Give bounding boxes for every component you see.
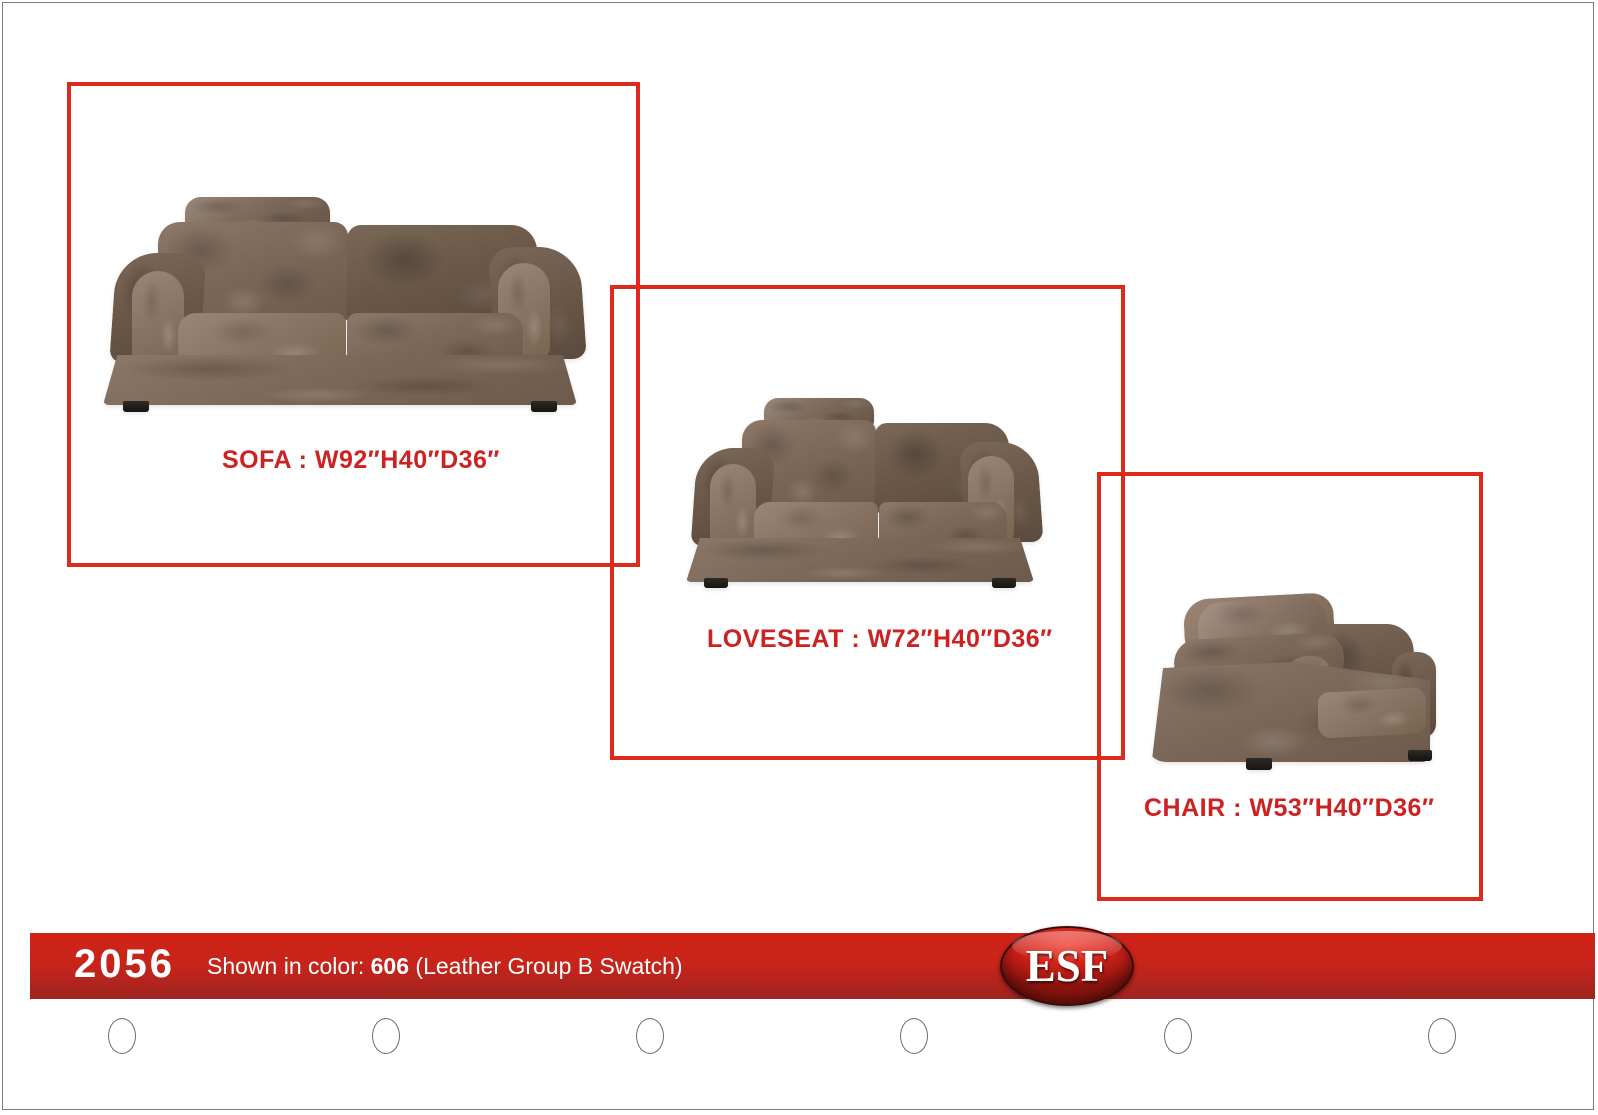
- loveseat-foot-right: [992, 578, 1016, 588]
- binder-hole: [636, 1018, 664, 1054]
- sofa-image: [95, 195, 585, 415]
- sofa-caption: SOFA : W92″H40″D36″: [222, 446, 500, 475]
- color-description-prefix: Shown in color:: [207, 953, 371, 979]
- binder-hole: [1428, 1018, 1456, 1054]
- sofa-foot-right: [531, 401, 557, 412]
- bottom-banner: 2056 Shown in color: 606 (Leather Group …: [30, 933, 1595, 999]
- color-description: Shown in color: 606 (Leather Group B Swa…: [207, 953, 683, 980]
- esf-logo: ESF: [1000, 926, 1134, 1006]
- color-code: 606: [371, 953, 409, 979]
- catalog-page: SOFA : W92″H40″D36″ LOVESEAT : W72″H40″D…: [0, 0, 1598, 1115]
- sofa-base: [103, 355, 577, 405]
- loveseat-foot-left: [704, 578, 728, 588]
- color-description-suffix: (Leather Group B Swatch): [409, 953, 683, 979]
- sofa-foot-left: [123, 401, 149, 412]
- chair-seat-cushion-overlay: [1318, 687, 1426, 739]
- loveseat-image: [680, 396, 1040, 586]
- sofa-arm-left-roll: [132, 271, 184, 369]
- chair-foot-front: [1246, 758, 1272, 770]
- esf-logo-text: ESF: [1000, 926, 1134, 1006]
- loveseat-base: [686, 538, 1034, 582]
- chair-image: [1140, 590, 1440, 775]
- chair-caption: CHAIR : W53″H40″D36″: [1144, 794, 1434, 823]
- chair-foot-right: [1408, 750, 1432, 761]
- binder-hole: [372, 1018, 400, 1054]
- binder-hole: [108, 1018, 136, 1054]
- binder-hole: [1164, 1018, 1192, 1054]
- binder-hole: [900, 1018, 928, 1054]
- loveseat-caption: LOVESEAT : W72″H40″D36″: [707, 625, 1053, 654]
- model-number: 2056: [74, 942, 175, 987]
